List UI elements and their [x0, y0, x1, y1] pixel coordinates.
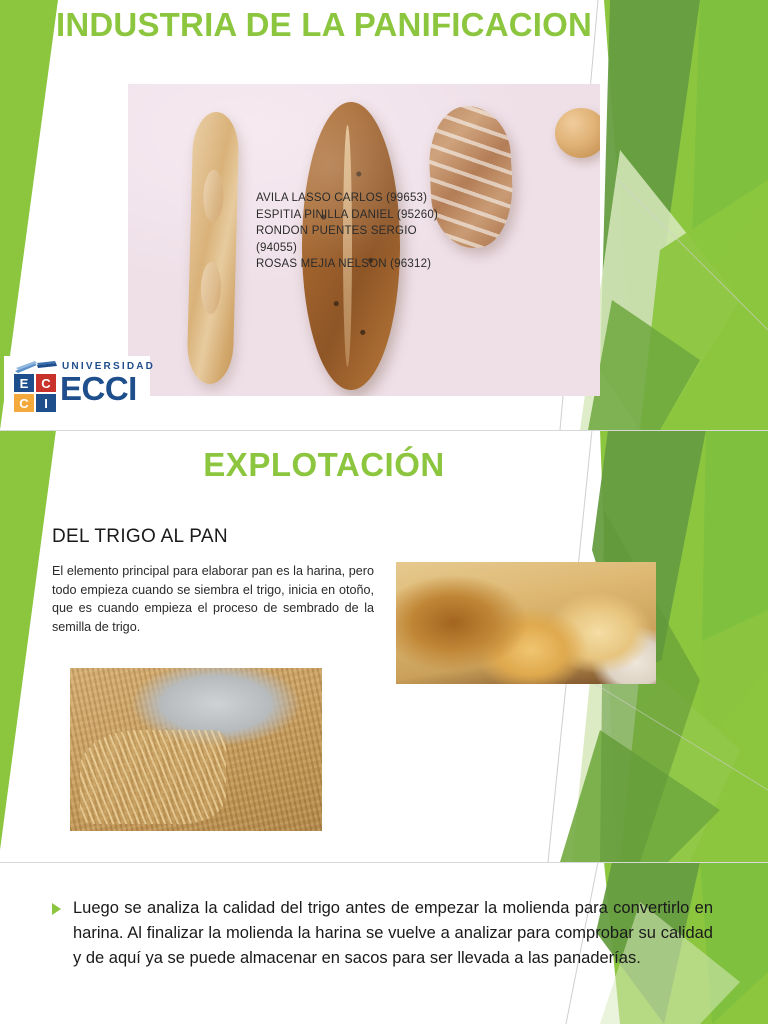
author-name: ROSAS MEJIA NELSON (96312)	[256, 256, 438, 273]
logo-square-c2: C	[14, 394, 34, 412]
author-name: (94055)	[256, 240, 438, 257]
bread-roll-shape	[555, 108, 600, 158]
triangle-bullet-icon	[52, 903, 61, 915]
slide-1-title: INDUSTRIA DE LA PANIFICACION	[56, 6, 592, 44]
ecci-university-logo: UNIVERSIDAD E C C I ECCI	[4, 356, 150, 416]
logo-ecci-text: ECCI	[60, 370, 137, 408]
breads-and-flour-photo	[396, 562, 656, 684]
bullet-list-item: Luego se analiza la calidad del trigo an…	[52, 896, 728, 971]
open-books-icon	[14, 360, 58, 374]
slide-3-bullet-text: Luego se analiza la calidad del trigo an…	[73, 896, 713, 971]
logo-square-i1: I	[36, 394, 56, 412]
logo-letter-squares: E C C I	[14, 374, 56, 412]
croissant-shape	[426, 104, 515, 250]
author-name: AVILA LASSO CARLOS (99653)	[256, 190, 438, 207]
author-name: ESPITIA PINILLA DANIEL (95260)	[256, 207, 438, 224]
slide-3: Luego se analiza la calidad del trigo an…	[0, 862, 768, 1024]
slide-separator	[0, 862, 768, 863]
wheat-grain-scoop-photo	[70, 668, 322, 831]
slide-2-subheading: DEL TRIGO AL PAN	[52, 526, 228, 548]
slide-2-title: EXPLOTACIÓN	[0, 446, 768, 484]
logo-square-e1: E	[14, 374, 34, 392]
presentation-deck: INDUSTRIA DE LA PANIFICACION AVILA LASSO…	[0, 0, 768, 1024]
baguette-shape	[186, 111, 239, 384]
slide-2-body-text: El elemento principal para elaborar pan …	[52, 562, 374, 636]
logo-square-c1: C	[36, 374, 56, 392]
slide-separator	[0, 430, 768, 431]
author-name: RONDON PUENTES SERGIO	[256, 223, 438, 240]
slide-1: INDUSTRIA DE LA PANIFICACION AVILA LASSO…	[0, 0, 768, 430]
authors-list: AVILA LASSO CARLOS (99653) ESPITIA PINIL…	[256, 190, 438, 273]
